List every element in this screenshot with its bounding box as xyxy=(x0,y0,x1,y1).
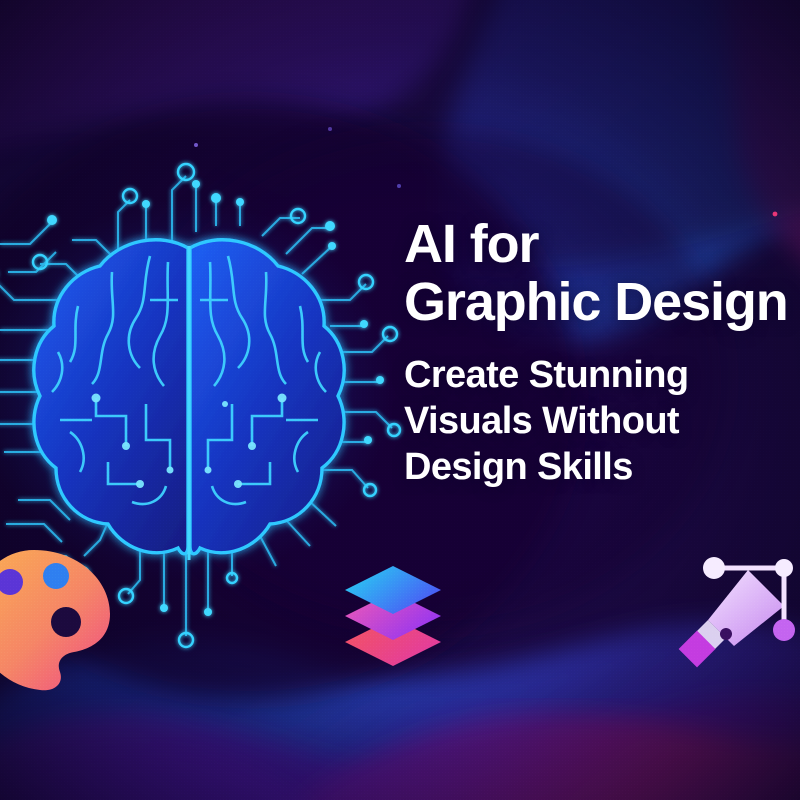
subheadline: Create Stunning Visuals Without Design S… xyxy=(404,352,800,490)
text-block: AI for Graphic Design Create Stunning Vi… xyxy=(404,216,800,490)
subhead-line-1: Create Stunning xyxy=(404,352,800,398)
subhead-line-3: Design Skills xyxy=(404,444,800,490)
headline-line-1: AI for xyxy=(404,216,800,273)
subhead-line-2: Visuals Without xyxy=(404,398,800,444)
banner-canvas: AI for Graphic Design Create Stunning Vi… xyxy=(0,0,800,800)
headline-line-2: Graphic Design xyxy=(404,274,800,331)
page-title: AI for Graphic Design xyxy=(404,216,800,331)
